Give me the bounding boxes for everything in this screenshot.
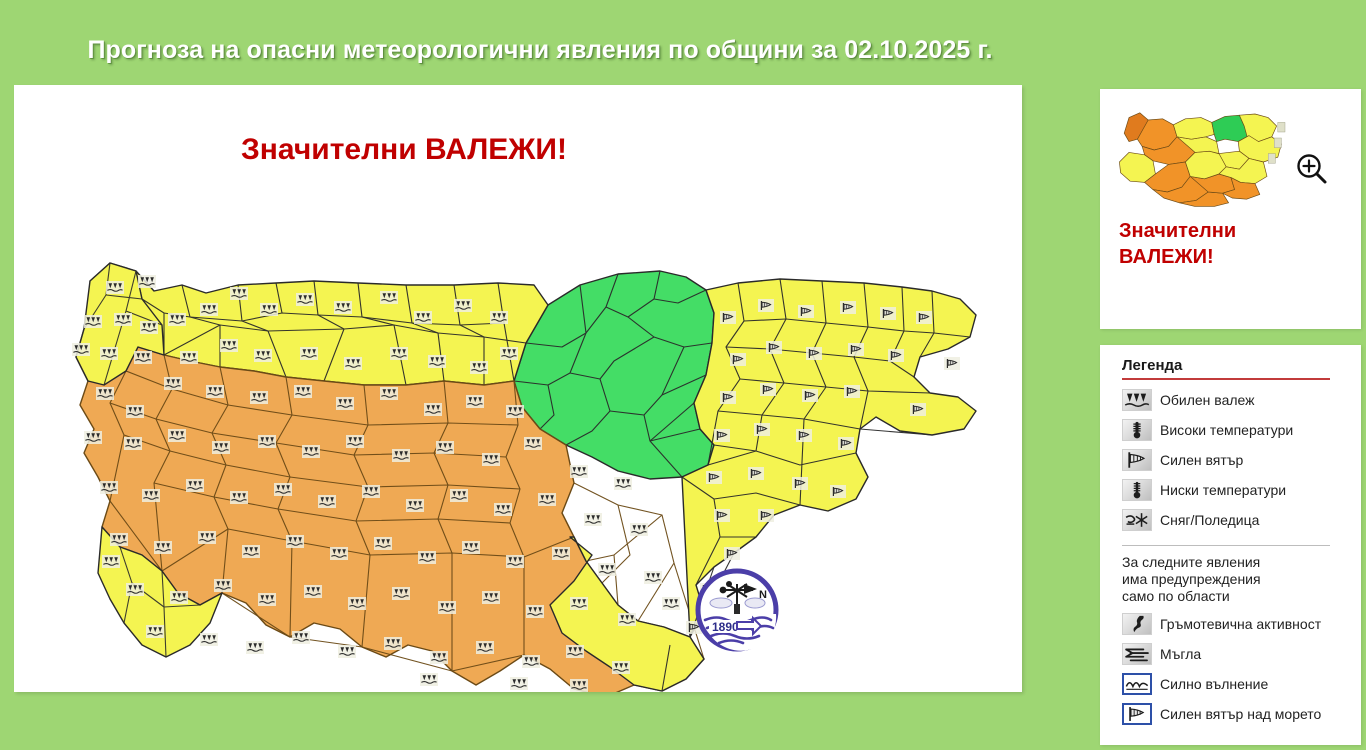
legend-item-label: Силен вятър (1160, 452, 1243, 468)
zoom-in-icon[interactable] (1294, 151, 1330, 187)
thumbnail-caption-line1: Значителни (1119, 219, 1349, 245)
low-temperature-icon (1122, 479, 1152, 501)
bulgaria-warning-map[interactable]: N 1890 (14, 85, 1022, 692)
legend-item-label: Силно вълнение (1160, 676, 1268, 692)
page-title: Прогноза на опасни метеорологични явлени… (0, 36, 1080, 65)
map-panel: Значителни ВАЛЕЖИ! (14, 85, 1022, 692)
fog-icon (1122, 643, 1152, 665)
legend-item-snow-ice: Сняг/Поледица (1122, 505, 1351, 535)
legend-item-high-waves: Силно вълнение (1122, 669, 1351, 699)
high-waves-icon (1122, 673, 1152, 695)
legend-card: Легенда Обилен валеж Високи температури (1100, 345, 1361, 745)
legend-item-label: Мъгла (1160, 646, 1201, 662)
forecast-thumbnail-card[interactable]: Значителни ВАЛЕЖИ! (1100, 89, 1361, 329)
legend-item-label: Силен вятър над морето (1160, 706, 1321, 722)
high-temperature-icon (1122, 419, 1152, 441)
legend-item-label: Гръмотевична активност (1160, 616, 1321, 632)
svg-text:N: N (759, 589, 767, 601)
legend-item-label: Високи температури (1160, 422, 1293, 438)
strong-sea-wind-icon (1122, 703, 1152, 725)
strong-wind-icon (1122, 449, 1152, 471)
legend-note: За следните явления има предупреждения с… (1122, 554, 1351, 605)
legend-divider-middle (1122, 545, 1330, 546)
legend-item-thunderstorm: Гръмотевична активност (1122, 609, 1351, 639)
legend-item-heavy-rain: Обилен валеж (1122, 385, 1351, 415)
thunderstorm-icon (1122, 613, 1152, 635)
legend-item-label: Сняг/Поледица (1160, 512, 1259, 528)
thumbnail-caption: Значителни ВАЛЕЖИ! (1119, 219, 1349, 270)
snow-ice-icon (1122, 509, 1152, 531)
legend-item-strong-wind: Силен вятър (1122, 445, 1351, 475)
thumbnail-map[interactable] (1111, 102, 1291, 210)
legend-title: Легенда (1122, 357, 1351, 374)
legend-item-high-temperature: Високи температури (1122, 415, 1351, 445)
legend-item-low-temperature: Ниски температури (1122, 475, 1351, 505)
legend-divider-top (1122, 378, 1330, 380)
legend-item-fog: Мъгла (1122, 639, 1351, 669)
svg-text:1890: 1890 (712, 620, 739, 634)
legend-item-strong-sea-wind: Силен вятър над морето (1122, 699, 1351, 729)
legend-item-label: Ниски температури (1160, 482, 1286, 498)
thumbnail-caption-line2: ВАЛЕЖИ! (1119, 245, 1349, 271)
heavy-rain-icon (1122, 389, 1152, 411)
legend-item-label: Обилен валеж (1160, 392, 1255, 408)
